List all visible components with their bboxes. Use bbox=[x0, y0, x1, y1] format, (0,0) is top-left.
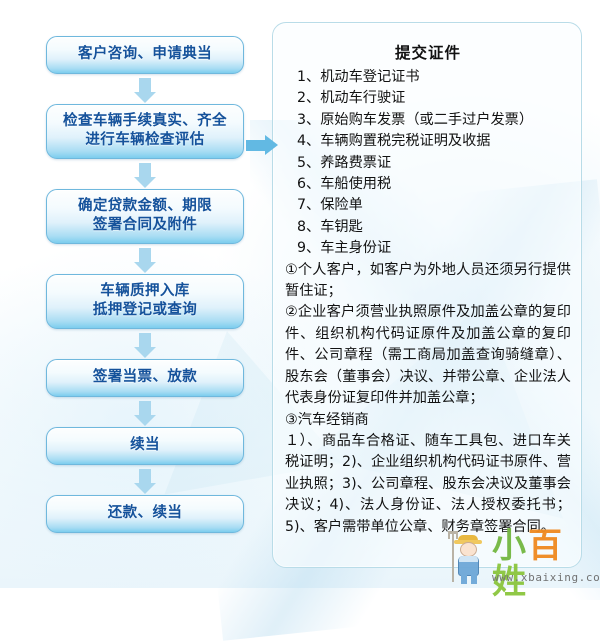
document-list-item: 7、保险单 bbox=[285, 195, 571, 216]
arrow-right-to-documents-icon bbox=[246, 133, 286, 157]
document-note-paragraph: ①个人客户，如客户为外地人员还须另行提供暂住证； bbox=[285, 260, 571, 303]
flow-node-repay-renew[interactable]: 还款、续当 bbox=[46, 495, 244, 533]
flow-node-label: 车辆质押入库 bbox=[51, 282, 239, 301]
document-list-item: 9、车主身份证 bbox=[285, 238, 571, 259]
flow-node-pledge-registration[interactable]: 车辆质押入库抵押登记或查询 bbox=[46, 274, 244, 329]
arrow-down-icon bbox=[46, 244, 244, 274]
flow-node-label: 确定贷款金额、期限 bbox=[51, 197, 239, 216]
flow-node-renew-pawn[interactable]: 续当 bbox=[46, 427, 244, 465]
flowchart-column: 客户咨询、申请典当检查车辆手续真实、齐全进行车辆检查评估确定贷款金额、期限签署合… bbox=[46, 36, 244, 533]
flow-node-label: 还款、续当 bbox=[51, 504, 239, 523]
document-note-paragraph: ③汽车经销商 bbox=[285, 410, 571, 431]
flow-node-sign-ticket-payout[interactable]: 签署当票、放款 bbox=[46, 359, 244, 397]
arrow-down-icon bbox=[46, 397, 244, 427]
watermark-char-2: 百 bbox=[528, 526, 564, 566]
flow-node-label: 签署合同及附件 bbox=[51, 216, 239, 235]
document-note-paragraph: １）、商品车合格证、随车工具包、进口车关税证明；2)、企业组织机构代码证书原件、… bbox=[285, 431, 571, 538]
documents-notes: ①个人客户，如客户为外地人员还须另行提供暂住证；②企业客户须营业执照原件及加盖公… bbox=[285, 260, 571, 538]
site-watermark: 小百姓 www.xbaixing.com bbox=[450, 530, 596, 586]
document-list-item: 6、车船使用税 bbox=[285, 174, 571, 195]
documents-panel: 提交证件 1、机动车登记证书2、机动车行驶证3、原始购车发票（或二手过户发票）4… bbox=[272, 22, 582, 568]
flow-node-label: 进行车辆检查评估 bbox=[51, 131, 239, 150]
arrow-down-icon bbox=[46, 465, 244, 495]
document-list-item: 4、车辆购置税完税证明及收据 bbox=[285, 131, 571, 152]
watermark-brand-text: 小百姓 bbox=[492, 528, 596, 600]
documents-panel-title: 提交证件 bbox=[285, 41, 571, 63]
flow-node-inspect-vehicle[interactable]: 检查车辆手续真实、齐全进行车辆检查评估 bbox=[46, 104, 244, 159]
farmer-mascot-icon bbox=[450, 530, 490, 584]
flow-node-label: 检查车辆手续真实、齐全 bbox=[51, 112, 239, 131]
document-list-item: 5、养路费票证 bbox=[285, 153, 571, 174]
flow-node-consult-apply[interactable]: 客户咨询、申请典当 bbox=[46, 36, 244, 74]
document-list-item: 2、机动车行驶证 bbox=[285, 88, 571, 109]
watermark-char-1: 小 bbox=[492, 526, 528, 566]
documents-list: 1、机动车登记证书2、机动车行驶证3、原始购车发票（或二手过户发票）4、车辆购置… bbox=[285, 67, 571, 260]
flow-node-label: 续当 bbox=[51, 436, 239, 455]
flow-node-label: 客户咨询、申请典当 bbox=[51, 45, 239, 64]
arrow-down-icon bbox=[46, 159, 244, 189]
document-list-item: 8、车钥匙 bbox=[285, 217, 571, 238]
arrow-down-icon bbox=[46, 329, 244, 359]
document-list-item: 3、原始购车发票（或二手过户发票） bbox=[285, 110, 571, 131]
document-list-item: 1、机动车登记证书 bbox=[285, 67, 571, 88]
flow-node-label: 抵押登记或查询 bbox=[51, 301, 239, 320]
flow-node-loan-terms-contract[interactable]: 确定贷款金额、期限签署合同及附件 bbox=[46, 189, 244, 244]
watermark-url: www.xbaixing.com bbox=[492, 571, 600, 584]
flow-node-label: 签署当票、放款 bbox=[51, 368, 239, 387]
arrow-down-icon bbox=[46, 74, 244, 104]
document-note-paragraph: ②企业客户须营业执照原件及加盖公章的复印件、组织机构代码证原件及加盖公章的复印件… bbox=[285, 302, 571, 409]
